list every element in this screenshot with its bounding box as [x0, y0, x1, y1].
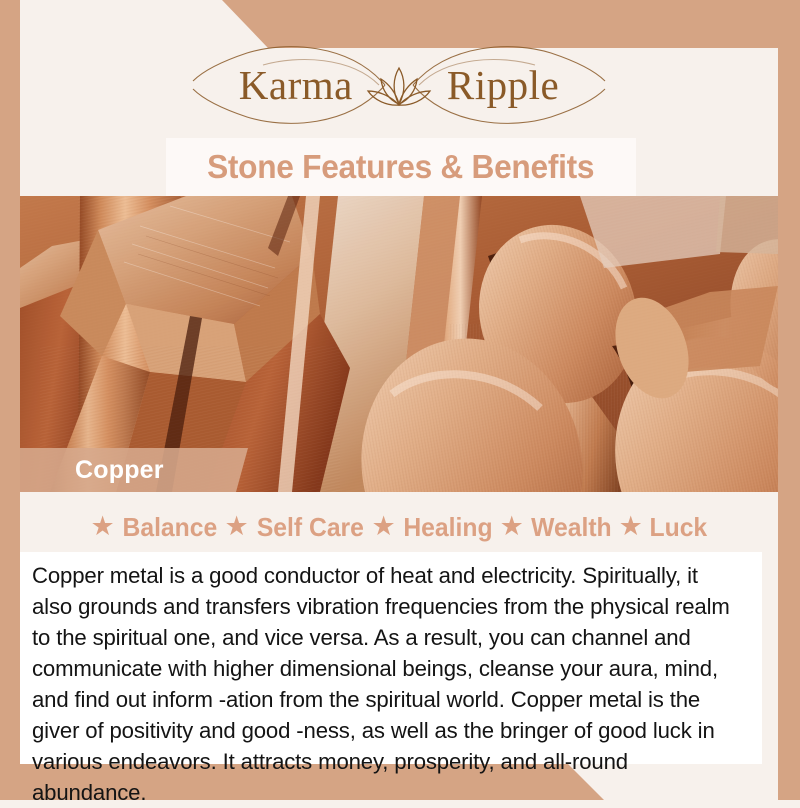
benefit-self-care: Self Care: [255, 512, 366, 543]
brand-word-ripple: Ripple: [447, 65, 559, 106]
copper-bars-photo: [20, 196, 778, 492]
benefit-luck: Luck: [647, 512, 708, 543]
star-icon: ★: [221, 513, 251, 540]
star-icon: ★: [616, 513, 646, 540]
star-icon: ★: [368, 513, 398, 540]
copper-photo-illustration: [20, 196, 778, 492]
page-title: Stone Features & Benefits: [207, 148, 594, 186]
benefits-row: ★ Balance ★ Self Care ★ Healing ★ Wealth…: [20, 508, 778, 546]
benefit-wealth: Wealth: [529, 512, 613, 543]
stone-name-label: Copper: [75, 456, 164, 485]
description-panel: Copper metal is a good conductor of heat…: [20, 552, 762, 764]
star-icon: ★: [497, 513, 527, 540]
star-icon: ★: [88, 513, 118, 540]
frame-left-band: [0, 0, 20, 800]
frame-right-band: [778, 0, 800, 800]
benefit-balance: Balance: [120, 512, 219, 543]
benefit-healing: Healing: [401, 512, 494, 543]
brand-word-karma: Karma: [239, 65, 353, 106]
stone-name-band: Copper: [20, 448, 248, 492]
description-text: Copper metal is a good conductor of heat…: [32, 560, 741, 808]
page-title-band: Stone Features & Benefits: [166, 138, 636, 196]
brand-logo: Karma Ripple: [20, 30, 778, 140]
